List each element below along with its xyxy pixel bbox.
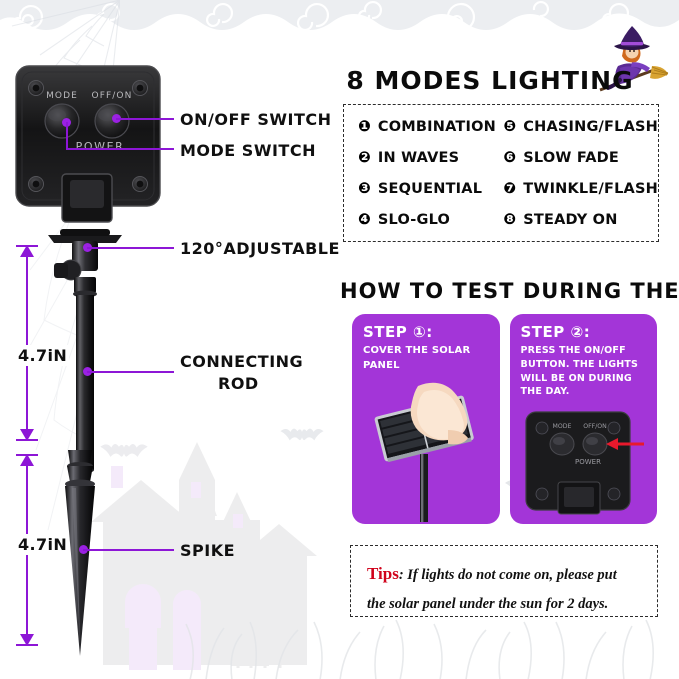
tips-line-1: Tips: If lights do not come on, please p… — [367, 557, 641, 590]
callout-mode-switch: MODE SWITCH — [180, 141, 316, 160]
callout-line-adjustable — [87, 247, 174, 249]
step-2-heading: STEP ②: — [521, 323, 591, 341]
callout-line-mode-vertical — [66, 122, 68, 149]
step-card-2: STEP ②: PRESS THE ON/OFF BUTTON. THE LIG… — [510, 314, 658, 524]
mode-item: ❸ SEQUENTIAL — [358, 181, 499, 197]
power-label-text: POWER — [76, 140, 125, 153]
modes-grid: ❶ COMBINATION ❺ CHASING/FLASH ❷ IN WAVES… — [344, 105, 658, 241]
dimension-rod-label: 4.7iN — [16, 345, 69, 366]
step-1-body: COVER THE SOLAR PANEL — [363, 344, 492, 373]
control-box-press-illustration: MODE OFF/ON POWER — [522, 410, 646, 518]
callout-120-adjustable: 120°ADJUSTABLE — [180, 239, 340, 258]
mode-item: ❷ IN WAVES — [358, 150, 499, 166]
mode-label: STEADY ON — [523, 212, 617, 228]
mode-label: COMBINATION — [378, 119, 496, 135]
callout-connecting-rod-line1: CONNECTING — [180, 352, 303, 371]
callout-line-spike — [83, 549, 174, 551]
mode-label: SEQUENTIAL — [378, 181, 482, 197]
mode-number: ❸ — [358, 181, 371, 196]
mode-label-text: MODE — [46, 91, 78, 101]
mode-number: ❹ — [358, 212, 371, 227]
onoff-label-text: OFF/ON — [92, 91, 133, 101]
mode-label: CHASING/FLASH — [523, 119, 658, 135]
mode-label: TWINKLE/FLASH — [523, 181, 658, 197]
modes-section-title: 8 MODES LIGHTING — [340, 66, 640, 95]
callout-connecting-rod-line2: ROD — [218, 374, 259, 393]
svg-text:OFF/ON: OFF/ON — [583, 423, 607, 430]
tips-box: Tips: If lights do not come on, please p… — [350, 545, 658, 617]
mode-label: SLO-GLO — [378, 212, 450, 228]
mode-item: ❹ SLO-GLO — [358, 212, 499, 228]
bat-icon — [280, 425, 324, 445]
svg-text:POWER: POWER — [575, 458, 601, 466]
spiral-border-decoration — [0, 0, 679, 46]
callout-line-connecting-rod — [87, 371, 174, 373]
dimension-rod-arrow — [16, 243, 38, 443]
test-section-title: HOW TO TEST DURING THE DAY? — [340, 279, 670, 303]
callout-spike: SPIKE — [180, 541, 235, 560]
modes-list-box: ❶ COMBINATION ❺ CHASING/FLASH ❷ IN WAVES… — [343, 104, 659, 242]
mode-number: ❼ — [503, 181, 516, 196]
mode-number: ❷ — [358, 150, 371, 165]
mode-number: ❶ — [358, 119, 371, 134]
step-2-body: PRESS THE ON/OFF BUTTON. THE LIGHTS WILL… — [521, 344, 650, 399]
mode-item: ❶ COMBINATION — [358, 119, 499, 135]
callout-line-onoff — [116, 118, 174, 120]
tips-line-2: the solar panel under the sun for 2 days… — [367, 590, 641, 618]
tips-text-1: : If lights do not come on, please put — [399, 567, 617, 583]
steps-container: STEP ①: COVER THE SOLAR PANEL — [352, 314, 657, 524]
mode-item: ❽ STEADY ON — [503, 212, 658, 228]
mode-number: ❺ — [503, 119, 516, 134]
dimension-spike-label: 4.7iN — [16, 534, 69, 555]
mode-number: ❽ — [503, 212, 516, 227]
solar-panel-control-box: MODE OFF/ON POWER — [14, 62, 162, 227]
tips-keyword: Tips — [367, 564, 399, 583]
mode-label: IN WAVES — [378, 150, 459, 166]
mode-number: ❻ — [503, 150, 516, 165]
svg-text:MODE: MODE — [552, 423, 571, 430]
mode-label: SLOW FADE — [523, 150, 619, 166]
step-card-1: STEP ①: COVER THE SOLAR PANEL — [352, 314, 500, 524]
callout-on-off-switch: ON/OFF SWITCH — [180, 110, 332, 129]
mode-item: ❼ TWINKLE/FLASH — [503, 181, 658, 197]
infographic-page: MODE OFF/ON POWER — [0, 0, 679, 679]
mode-item: ❻ SLOW FADE — [503, 150, 658, 166]
mode-item: ❺ CHASING/FLASH — [503, 119, 658, 135]
solar-panel-hand-illustration — [360, 376, 500, 522]
step-1-heading: STEP ①: — [363, 323, 433, 341]
callout-line-mode — [66, 148, 174, 150]
